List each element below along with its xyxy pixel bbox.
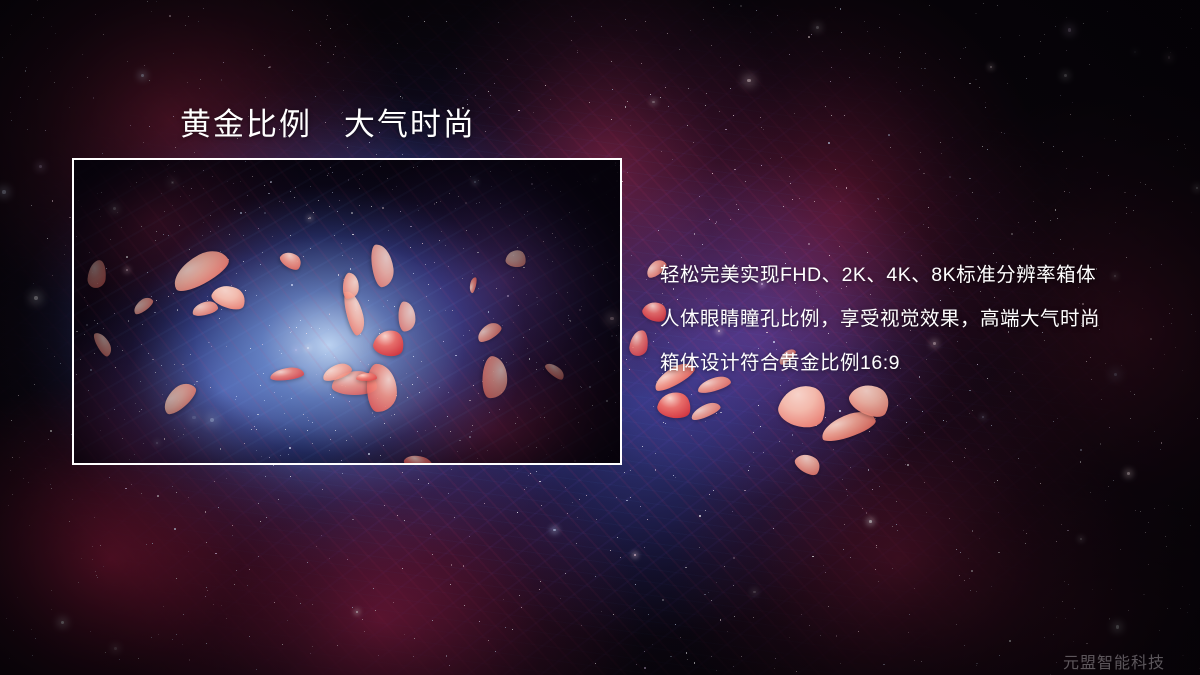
description-line-2: 人体眼睛瞳孔比例，享受视觉效果，高端大气时尚 bbox=[660, 297, 1180, 341]
petal bbox=[689, 400, 722, 423]
description-line-1: 轻松完美实现FHD、2K、4K、8K标准分辨率箱体 bbox=[660, 253, 1180, 297]
petal bbox=[818, 407, 878, 445]
presentation-slide: 黄金比例 大气时尚 轻松完美实现FHD、2K、4K、8K标准分辨率箱体 人体眼睛… bbox=[0, 0, 1200, 675]
description-text-block: 轻松完美实现FHD、2K、4K、8K标准分辨率箱体 人体眼睛瞳孔比例，享受视觉效… bbox=[660, 253, 1180, 385]
page-title: 黄金比例 大气时尚 bbox=[180, 99, 476, 144]
watermark-label: 元盟智能科技 bbox=[1063, 649, 1165, 673]
petal bbox=[628, 329, 649, 357]
panel-vignette bbox=[74, 160, 620, 463]
petal bbox=[792, 449, 824, 478]
image-frame-panel bbox=[72, 158, 622, 465]
petal bbox=[775, 379, 832, 433]
petal bbox=[656, 389, 694, 421]
description-line-3: 箱体设计符合黄金比例16:9 bbox=[660, 341, 1180, 385]
